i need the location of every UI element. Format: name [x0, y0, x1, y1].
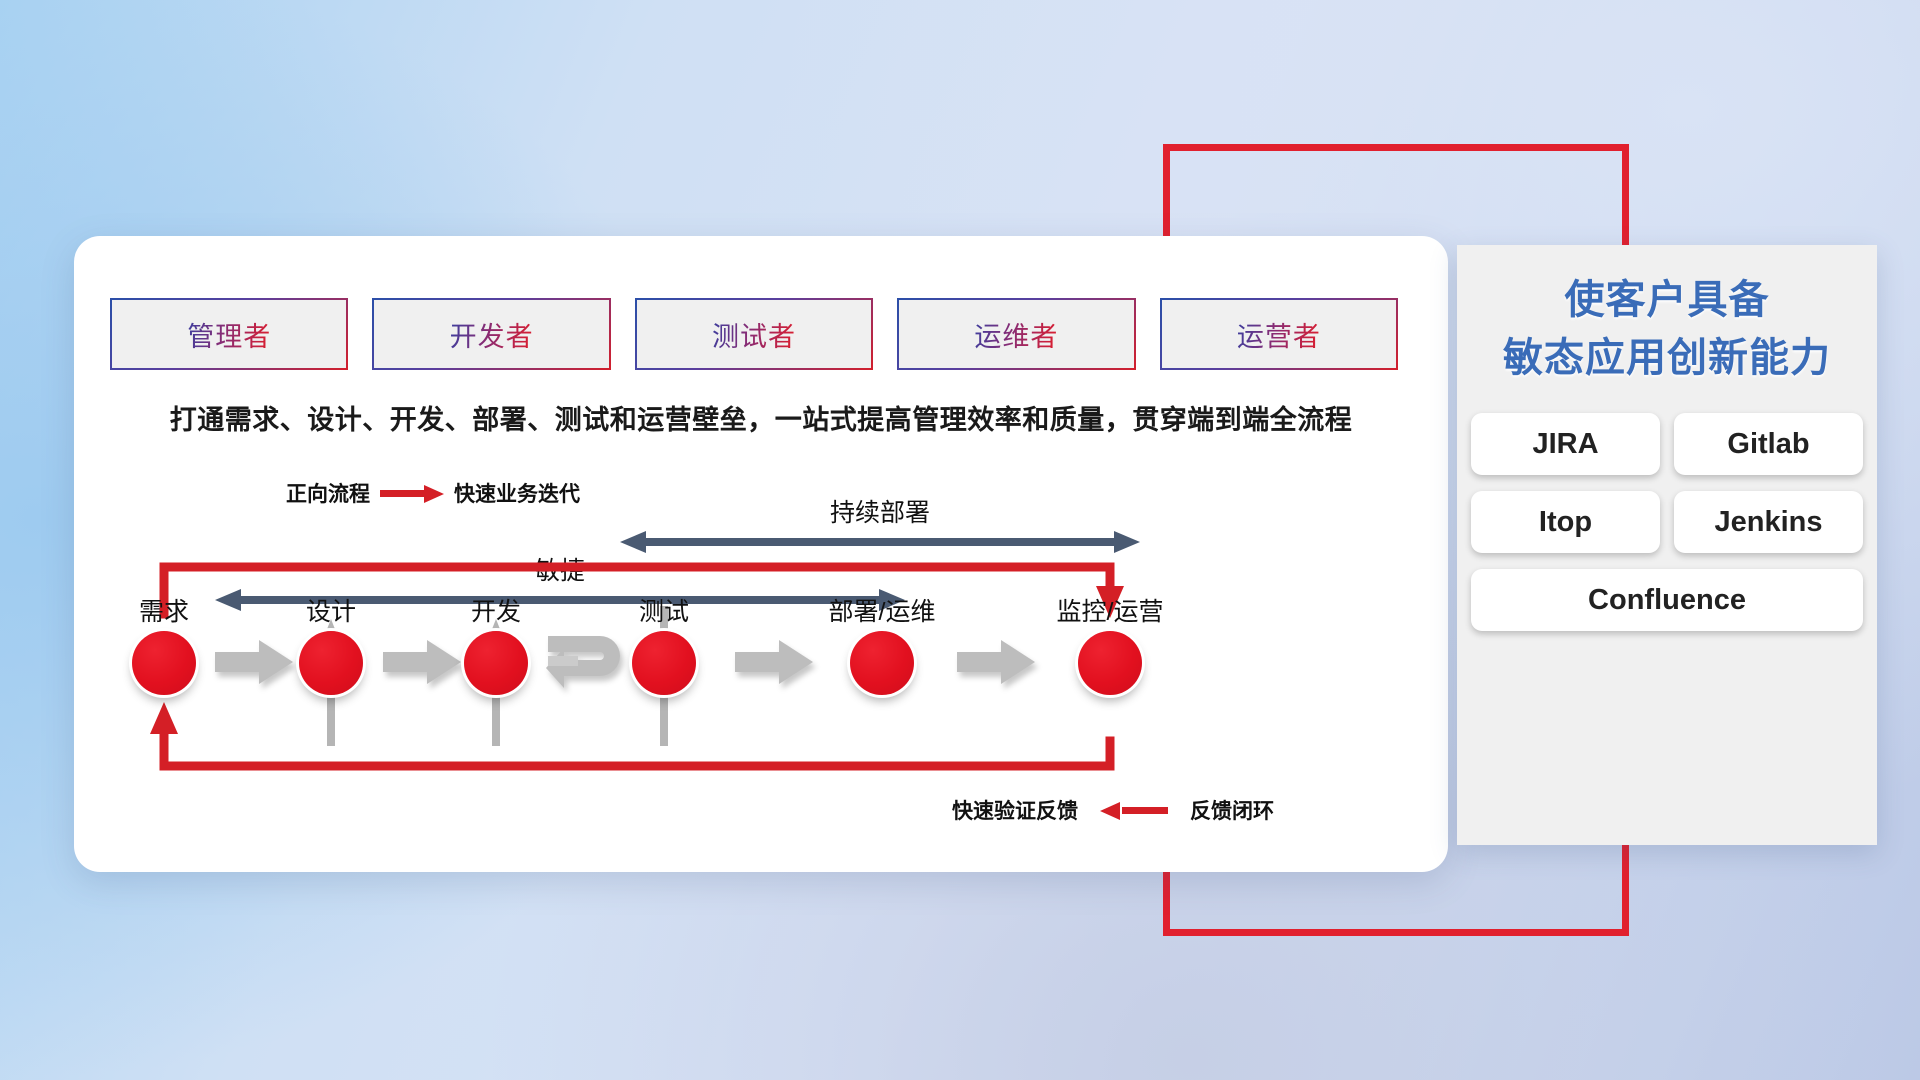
legend-forward-right-label: 快速业务迭代 — [454, 478, 580, 508]
tool-chip-jenkins[interactable]: Jenkins — [1674, 491, 1863, 553]
pipeline-stages: 需求 设计 开发 测试 部署/运维 — [74, 600, 1448, 730]
panel-title: 使客户具备 敏态应用创新能力 — [1457, 245, 1877, 387]
panel-title-line2: 敏态应用创新能力 — [1457, 329, 1877, 387]
tool-chip-itop[interactable]: Itop — [1471, 491, 1660, 553]
stage-label: 设计 — [256, 600, 406, 625]
legend-feedback-right-label: 反馈闭环 — [1190, 795, 1274, 825]
role-box-developer[interactable]: 开发者 — [372, 298, 610, 370]
slide-canvas: 管理者 开发者 测试者 运维者 运营者 打通需求、设计、开发、部署、测试和运营壁… — [0, 0, 1920, 1080]
tool-chip-gitlab[interactable]: Gitlab — [1674, 413, 1863, 475]
stage-label: 部署/运维 — [807, 600, 957, 625]
stage-monitor-operations[interactable]: 监控/运营 — [1035, 600, 1185, 695]
role-box-ops[interactable]: 运维者 — [897, 298, 1135, 370]
chevron-right-grey-icon — [957, 638, 1035, 686]
stage-dot-icon — [1078, 631, 1142, 695]
role-box-row: 管理者 开发者 测试者 运维者 运营者 — [110, 298, 1398, 370]
panel-title-line1: 使客户具备 — [1457, 271, 1877, 329]
stage-label: 需求 — [89, 600, 239, 625]
stage-label: 监控/运营 — [1035, 600, 1185, 625]
role-label: 管理者 — [187, 315, 271, 354]
role-label: 测试者 — [712, 315, 796, 354]
stage-dot-icon — [464, 631, 528, 695]
role-label: 运营者 — [1237, 315, 1321, 354]
chevron-right-grey-icon — [735, 638, 813, 686]
stage-dot-icon — [632, 631, 696, 695]
stage-dot-icon — [850, 631, 914, 695]
legend-forward-flow: 正向流程 快速业务迭代 — [286, 478, 580, 508]
stage-testing[interactable]: 测试 — [589, 600, 739, 695]
stage-label: 测试 — [589, 600, 739, 625]
legend-feedback-loop: 快速验证反馈 反馈闭环 — [952, 795, 1274, 825]
arrow-left-red-icon — [1100, 804, 1168, 816]
legend-feedback-left-label: 快速验证反馈 — [952, 795, 1078, 825]
arrow-right-red-icon — [380, 487, 444, 499]
value-proposition-panel: 使客户具备 敏态应用创新能力 JIRA Gitlab Itop Jenkins … — [1457, 245, 1877, 845]
span-label: 敏捷 — [215, 551, 905, 587]
tool-chip-confluence[interactable]: Confluence — [1471, 569, 1863, 631]
stage-dot-icon — [299, 631, 363, 695]
role-box-tester[interactable]: 测试者 — [635, 298, 873, 370]
legend-forward-left-label: 正向流程 — [286, 478, 370, 508]
tool-chip-jira[interactable]: JIRA — [1471, 413, 1660, 475]
role-box-manager[interactable]: 管理者 — [110, 298, 348, 370]
span-label: 持续部署 — [620, 493, 1140, 529]
role-box-operations[interactable]: 运营者 — [1160, 298, 1398, 370]
tool-chip-grid: JIRA Gitlab Itop Jenkins Confluence — [1471, 413, 1863, 631]
stage-deploy-ops[interactable]: 部署/运维 — [807, 600, 957, 695]
role-label: 开发者 — [450, 315, 534, 354]
role-label: 运维者 — [974, 315, 1058, 354]
headline-text: 打通需求、设计、开发、部署、测试和运营壁垒，一站式提高管理效率和质量，贯穿端到端… — [74, 398, 1448, 437]
stage-dot-icon — [132, 631, 196, 695]
